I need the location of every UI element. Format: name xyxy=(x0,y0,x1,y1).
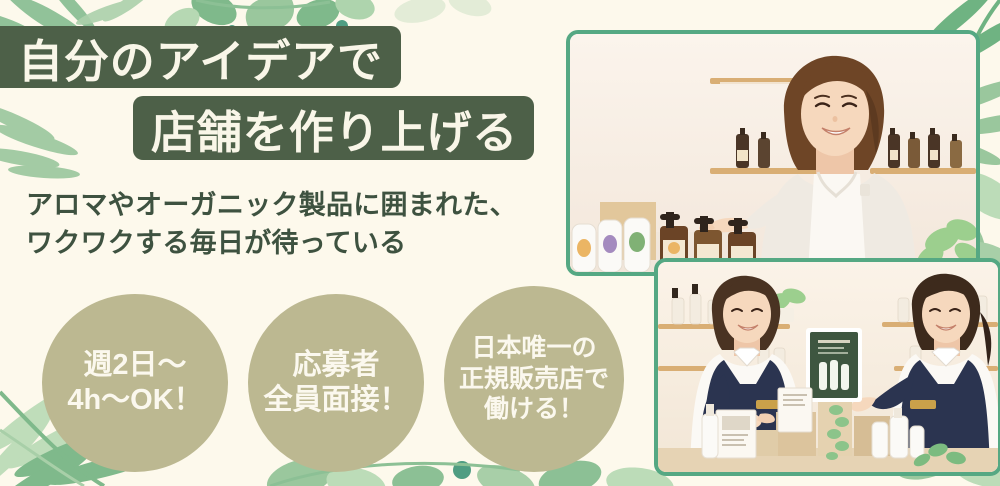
photo-staff-presenting xyxy=(566,30,980,276)
badge-interview-line1: 応募者 xyxy=(292,348,379,383)
subtitle-line2: ワクワクする毎日が待っている xyxy=(26,224,517,262)
badge-store-line3: 働ける！ xyxy=(484,394,584,425)
recruitment-banner: 自分のアイデアで 店舗を作り上げる アロマやオーガニック製品に囲まれた、 ワクワ… xyxy=(0,0,1000,486)
headline-band-line1: 自分のアイデアで xyxy=(0,26,401,88)
photo-two-staff xyxy=(654,258,1000,476)
badge-store: 日本唯一の 正規販売店で 働ける！ xyxy=(444,286,624,472)
badge-days: 週2日〜 4h〜OK！ xyxy=(42,294,228,472)
headline-line2-text: 店舗を作り上げる xyxy=(151,96,518,161)
headline-band-line2: 店舗を作り上げる xyxy=(133,96,534,160)
badge-days-line1: 週2日〜 xyxy=(83,348,186,383)
badge-days-line2: 4h〜OK！ xyxy=(67,383,202,418)
subtitle-line1: アロマやオーガニック製品に囲まれた、 xyxy=(26,186,517,224)
badge-store-line2: 正規販売店で xyxy=(459,364,609,395)
badge-interview: 応募者 全員面接！ xyxy=(248,294,424,472)
badge-interview-line2: 全員面接！ xyxy=(263,383,408,418)
headline-line1-text: 自分のアイデアで xyxy=(18,25,383,90)
subtitle-text: アロマやオーガニック製品に囲まれた、 ワクワクする毎日が待っている xyxy=(26,186,517,263)
badge-store-line1: 日本唯一の xyxy=(471,333,596,364)
